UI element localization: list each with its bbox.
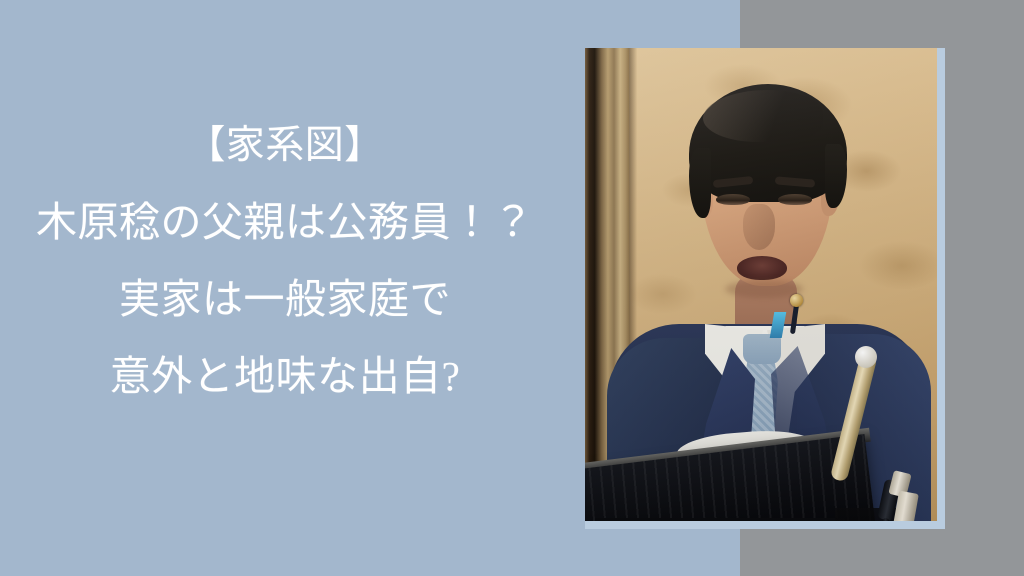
eye-left <box>716 194 750 205</box>
necktie-knot <box>743 334 781 364</box>
microphone-head <box>855 346 877 368</box>
headline-line-1: 【家系図】 <box>0 126 570 165</box>
headline-line-3: 実家は一般家庭で <box>0 279 570 320</box>
photo-card <box>585 48 945 529</box>
eye-right <box>778 194 812 205</box>
mouth <box>737 256 787 280</box>
headline-line-2: 木原稔の父親は公務員！？ <box>0 202 570 243</box>
headline-line-4: 意外と地味な出自? <box>0 356 570 397</box>
thumbnail-canvas: 【家系図】 木原稔の父親は公務員！？ 実家は一般家庭で 意外と地味な出自? <box>0 0 1024 576</box>
gold-lapel-pin-icon <box>790 294 803 307</box>
sideburn-left <box>689 148 711 218</box>
hair-highlight <box>703 90 823 142</box>
photo-image <box>585 48 937 521</box>
lectern-base <box>595 518 845 521</box>
headline-text-block: 【家系図】 木原稔の父親は公務員！？ 実家は一般家庭で 意外と地味な出自? <box>0 126 570 397</box>
nose <box>743 204 775 250</box>
sideburn-right <box>825 144 847 208</box>
